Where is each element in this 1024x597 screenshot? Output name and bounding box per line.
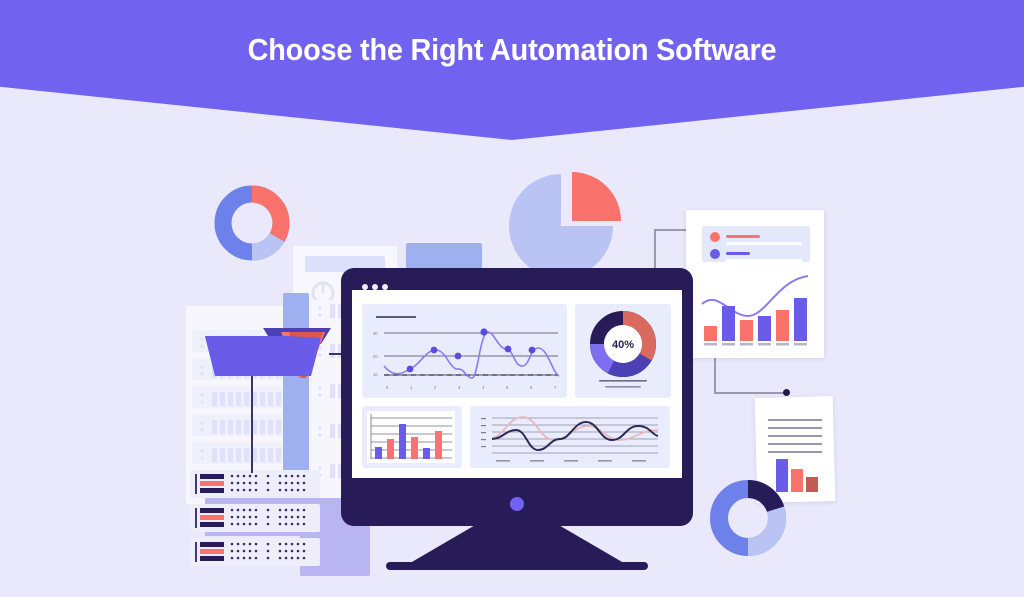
svg-text:6: 6 bbox=[530, 385, 533, 390]
page-title: Choose the Right Automation Software bbox=[36, 32, 988, 68]
monitor-donut-chart: 40% bbox=[575, 304, 671, 398]
svg-text:5: 5 bbox=[506, 385, 509, 390]
monitor-stand-neck bbox=[476, 524, 558, 566]
monitor-bar-chart bbox=[362, 406, 462, 468]
legend-content bbox=[702, 226, 812, 264]
switch-detail bbox=[190, 470, 325, 570]
svg-text:0: 0 bbox=[386, 385, 389, 390]
monitor-wave-chart bbox=[470, 406, 670, 468]
monitor-line-chart: 30 20 10 0 1 2 3 4 5 6 7 bbox=[362, 304, 567, 398]
monitor-power-dot bbox=[510, 497, 524, 511]
connector-line-horizontal bbox=[714, 392, 786, 394]
banner-chevron-shape bbox=[0, 0, 1024, 140]
document-bar-chart bbox=[700, 272, 812, 348]
data-funnel-icon bbox=[203, 326, 335, 384]
svg-text:4: 4 bbox=[482, 385, 485, 390]
svg-text:1: 1 bbox=[410, 385, 413, 390]
floating-donut-top-left bbox=[214, 185, 290, 261]
header-banner: Choose the Right Automation Software bbox=[0, 0, 1024, 140]
svg-text:20: 20 bbox=[373, 354, 378, 359]
svg-text:10: 10 bbox=[373, 372, 378, 377]
donut-center-label: 40% bbox=[612, 339, 634, 351]
svg-text:30: 30 bbox=[373, 331, 378, 336]
floating-donut-bottom-right bbox=[709, 479, 787, 557]
monitor-stand-base bbox=[386, 562, 648, 570]
illustration-page: Choose the Right Automation Software bbox=[0, 0, 1024, 597]
floating-pie-top-center bbox=[505, 168, 627, 280]
svg-text:2: 2 bbox=[434, 385, 437, 390]
connector-line-vertical bbox=[654, 229, 656, 271]
connector-dot bbox=[783, 389, 790, 396]
monitor-stand-left bbox=[405, 524, 477, 566]
funnel-stem-connector bbox=[251, 375, 253, 473]
svg-text:3: 3 bbox=[458, 385, 461, 390]
monitor-stand-right bbox=[557, 524, 629, 566]
svg-text:7: 7 bbox=[554, 385, 557, 390]
